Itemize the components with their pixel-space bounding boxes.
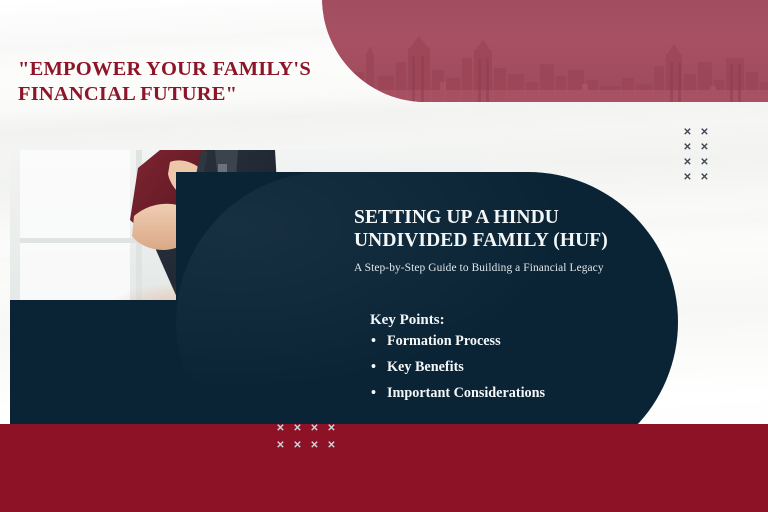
cross-icon: ✕ <box>323 441 340 458</box>
cross-icon: ✕ <box>696 128 713 143</box>
headline-line-2: FINANCIAL FUTURE" <box>18 82 328 107</box>
list-item: • Important Considerations <box>370 386 545 400</box>
skyline-silhouette-icon <box>322 24 768 102</box>
key-points-list: • Formation Process • Key Benefits • Imp… <box>370 334 545 401</box>
cross-icon: ✕ <box>323 424 340 441</box>
cross-icon: ✕ <box>696 173 713 188</box>
cross-icon: ✕ <box>306 424 323 441</box>
headline-line-1: "EMPOWER YOUR FAMILY'S <box>18 57 328 82</box>
cross-icon: ✕ <box>289 424 306 441</box>
cross-icon: ✕ <box>696 143 713 158</box>
cross-icon: ✕ <box>272 441 289 458</box>
list-item-label: Important Considerations <box>387 385 545 401</box>
card-title: SETTING UP A HINDU UNDIVIDED FAMILY (HUF… <box>354 206 654 252</box>
cross-icon: ✕ <box>306 441 323 458</box>
cross-grid-top-right: ✕✕✕✕✕✕✕✕ <box>679 128 713 188</box>
cross-icon: ✕ <box>272 424 289 441</box>
cross-icon: ✕ <box>679 143 696 158</box>
card-heading-block: SETTING UP A HINDU UNDIVIDED FAMILY (HUF… <box>354 206 654 276</box>
list-item-label: Key Benefits <box>387 359 464 375</box>
cross-icon: ✕ <box>289 441 306 458</box>
cross-icon: ✕ <box>679 173 696 188</box>
bottom-accent-band <box>0 424 768 512</box>
cross-icon: ✕ <box>679 128 696 143</box>
bullet-icon: • <box>371 334 376 348</box>
card-subtitle: A Step-by-Step Guide to Building a Finan… <box>354 261 654 276</box>
list-item: • Formation Process <box>370 334 545 348</box>
bullet-icon: • <box>371 386 376 400</box>
page-title: "EMPOWER YOUR FAMILY'S FINANCIAL FUTURE" <box>18 57 328 106</box>
card-title-line-2: UNDIVIDED FAMILY (HUF) <box>354 229 654 252</box>
card-title-line-1: SETTING UP A HINDU <box>354 206 654 229</box>
cross-icon: ✕ <box>696 158 713 173</box>
cross-grid-bottom: ✕✕✕✕✕✕✕✕ <box>272 424 340 458</box>
list-item: • Key Benefits <box>370 360 545 374</box>
poster-canvas: "EMPOWER YOUR FAMILY'S FINANCIAL FUTURE"… <box>0 0 768 512</box>
list-item-label: Formation Process <box>387 333 501 349</box>
cross-icon: ✕ <box>679 158 696 173</box>
bullet-icon: • <box>371 360 376 374</box>
key-points-heading: Key Points: <box>370 312 545 329</box>
key-points-block: Key Points: • Formation Process • Key Be… <box>370 312 545 413</box>
city-skyline-banner <box>322 0 768 102</box>
